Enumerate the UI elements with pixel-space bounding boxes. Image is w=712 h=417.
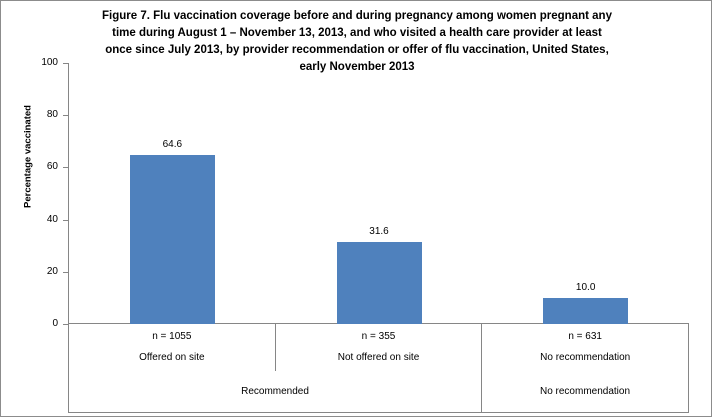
y-tick-label: 0 (18, 319, 58, 329)
sample-size-label: n = 1055 (152, 331, 191, 342)
category-label-table: n = 1055Offered on siten = 355Not offere… (68, 323, 689, 413)
category-row: n = 1055Offered on siten = 355Not offere… (69, 323, 688, 371)
y-tick-mark (63, 63, 68, 64)
group-row: RecommendedNo recommendation (69, 371, 688, 412)
category-label: Offered on site (139, 352, 204, 363)
bar[interactable] (337, 242, 422, 324)
category-cell: n = 631No recommendation (481, 323, 688, 371)
sample-size-label: n = 631 (568, 331, 602, 342)
y-tick-label: 80 (18, 110, 58, 120)
category-cell: n = 355Not offered on site (275, 323, 482, 371)
y-tick-mark (63, 220, 68, 221)
bar-value-label: 10.0 (543, 282, 628, 293)
group-label: Recommended (241, 386, 309, 397)
group-label: No recommendation (540, 386, 630, 397)
y-tick-mark (63, 115, 68, 116)
bar[interactable] (130, 155, 215, 324)
y-tick-mark (63, 167, 68, 168)
chart-title-line-3: once since July 2013, by provider recomm… (67, 42, 647, 59)
y-tick-mark (63, 272, 68, 273)
bar[interactable] (543, 298, 628, 324)
chart-title-line-2: time during August 1 – November 13, 2013… (67, 25, 647, 42)
chart-title-line-1: Figure 7. Flu vaccination coverage befor… (67, 8, 647, 25)
sample-size-label: n = 355 (362, 331, 396, 342)
y-tick-label: 20 (18, 267, 58, 277)
category-label: No recommendation (540, 352, 630, 363)
plot-area: 64.631.610.0 (69, 63, 689, 324)
category-cell: n = 1055Offered on site (69, 323, 275, 371)
bar-value-label: 64.6 (130, 139, 215, 150)
y-tick-label: 60 (18, 162, 58, 172)
group-cell: Recommended (69, 371, 481, 412)
figure-container: Figure 7. Flu vaccination coverage befor… (0, 0, 712, 417)
category-label: Not offered on site (338, 352, 420, 363)
group-cell: No recommendation (481, 371, 688, 412)
bar-value-label: 31.6 (337, 226, 422, 237)
y-tick-label: 100 (18, 58, 58, 68)
y-tick-label: 40 (18, 215, 58, 225)
